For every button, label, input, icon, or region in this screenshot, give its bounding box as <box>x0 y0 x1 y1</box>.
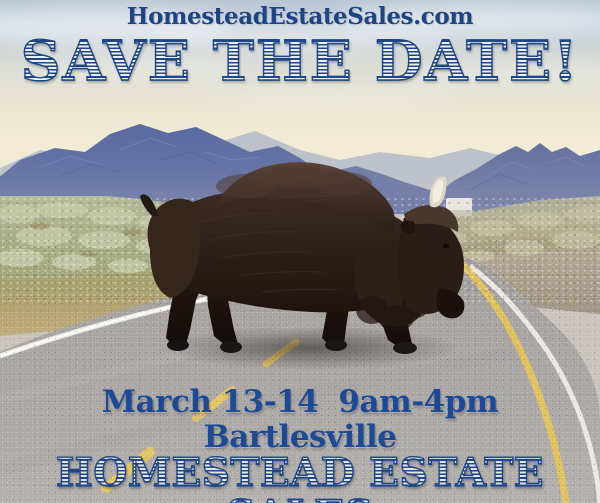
event-hours: 9am-4pm <box>338 384 498 420</box>
website-url: HomesteadEstateSales.com <box>0 3 600 30</box>
page-title: SAVE THE DATE! <box>0 33 600 89</box>
save-the-date-flyer: HomesteadEstateSales.com SAVE THE DATE! … <box>0 0 600 503</box>
event-datetime: March 13-149am-4pm <box>0 385 600 419</box>
event-dates: March 13-14 <box>102 384 319 420</box>
company-name: HOMESTEAD ESTATE SALES <box>0 452 600 503</box>
